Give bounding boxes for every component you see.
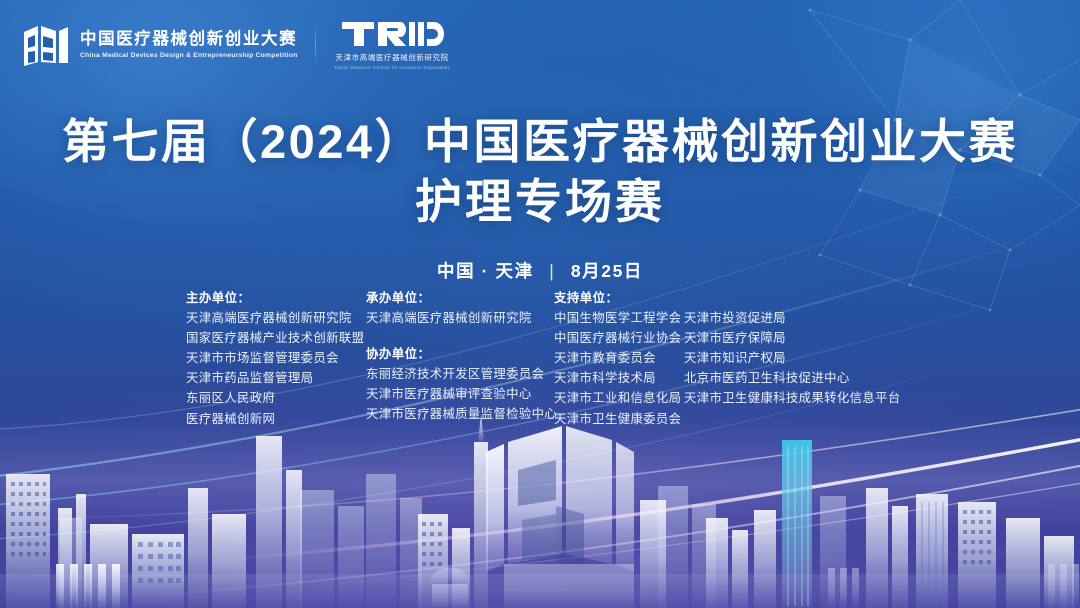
group-heading: 承办单位： [366,288,554,308]
triid-wordmark-icon [340,20,444,48]
organizer-item: 天津市医疗保障局 [684,328,894,348]
header-logos: 中国医疗器械创新创业大赛 China Medical Devices Desig… [22,20,450,70]
institute-name-en: Tianjin Research Institute for Innovativ… [334,65,450,70]
organizer-item: 医疗器械创新网 [186,409,366,429]
organizer-item: 中国医疗器械行业协会 [554,328,684,348]
organizer-item: 天津市科学技术局 [554,368,684,388]
group-heading: 支持单位： [554,288,684,308]
organizer-item: 天津市工业和信息化局 [554,388,684,408]
event-location: 中国 · 天津 [437,261,534,281]
organizer-group: 协办单位： 东丽经济技术开发区管理委员会 天津市医疗器械审评查验中心 天津市医疗… [366,344,554,424]
organizer-column-3: 支持单位： 中国生物医学工程学会 中国医疗器械行业协会 天津市教育委员会 天津市… [554,288,684,429]
competition-name-cn: 中国医疗器械创新创业大赛 [80,30,297,49]
competition-name-en: China Medical Devices Design & Entrepren… [80,52,302,60]
organizer-item: 东丽区人民政府 [186,388,366,408]
organizer-item: 天津高端医疗器械创新研究院 [186,308,366,328]
organizer-columns: 主办单位： 天津高端医疗器械创新研究院 国家医疗器械产业技术创新联盟 天津市市场… [186,288,894,429]
organizer-column-2: 承办单位： 天津高端医疗器械创新研究院 协办单位： 东丽经济技术开发区管理委员会… [366,288,554,425]
meta-separator: | [549,261,555,282]
organizer-group: 主办单位： 天津高端医疗器械创新研究院 国家医疗器械产业技术创新联盟 天津市市场… [186,288,366,429]
organizer-item: 天津市市场监督管理委员会 [186,348,366,368]
institute-name-cn: 天津市高端医疗器械创新研究院 [336,52,449,63]
organizer-group: 承办单位： 天津高端医疗器械创新研究院 [366,288,554,328]
organizer-item: 天津高端医疗器械创新研究院 [366,308,554,328]
organizer-group: 天津市投资促进局 天津市医疗保障局 天津市知识产权局 北京市医药卫生科技促进中心… [684,308,894,408]
ground-haze [0,420,1080,530]
organizer-item: 东丽经济技术开发区管理委员会 [366,364,554,384]
organizer-item: 天津市卫生健康科技成果转化信息平台 [684,388,894,408]
organizer-item: 天津市知识产权局 [684,348,894,368]
organizer-column-4: 天津市投资促进局 天津市医疗保障局 天津市知识产权局 北京市医药卫生科技促进中心… [684,288,894,408]
open-door-logo-icon [22,22,70,68]
poster-canvas: 中国医疗器械创新创业大赛 China Medical Devices Desig… [0,0,1080,608]
organizer-item: 北京市医药卫生科技促进中心 [684,368,894,388]
poster-title: 第七届（2024）中国医疗器械创新创业大赛 护理专场赛 [0,112,1080,232]
organizer-group: 支持单位： 中国生物医学工程学会 中国医疗器械行业协会 天津市教育委员会 天津市… [554,288,684,429]
event-meta: 中国 · 天津 | 8月25日 [0,258,1080,283]
institute-logo: 天津市高端医疗器械创新研究院 Tianjin Research Institut… [334,20,450,70]
competition-logo: 中国医疗器械创新创业大赛 China Medical Devices Desig… [22,22,297,68]
organizer-item: 中国生物医学工程学会 [554,308,684,328]
organizer-column-1: 主办单位： 天津高端医疗器械创新研究院 国家医疗器械产业技术创新联盟 天津市市场… [186,288,366,429]
organizer-item: 天津市药品监督管理局 [186,368,366,388]
organizer-item: 天津市卫生健康委员会 [554,409,684,429]
title-line-2: 护理专场赛 [0,172,1080,232]
organizer-item: 国家医疗器械产业技术创新联盟 [186,328,366,348]
organizer-item: 天津市投资促进局 [684,308,894,328]
logo-divider [315,24,316,66]
group-heading: 协办单位： [366,344,554,364]
event-date: 8月25日 [571,261,643,281]
open-door-monument [486,426,634,608]
organizer-item: 天津市教育委员会 [554,348,684,368]
organizer-item: 天津市医疗器械质量监督检验中心 [366,404,554,424]
group-heading: 主办单位： [186,288,366,308]
title-line-1: 第七届（2024）中国医疗器械创新创业大赛 [0,112,1080,172]
organizer-item: 天津市医疗器械审评查验中心 [366,384,554,404]
